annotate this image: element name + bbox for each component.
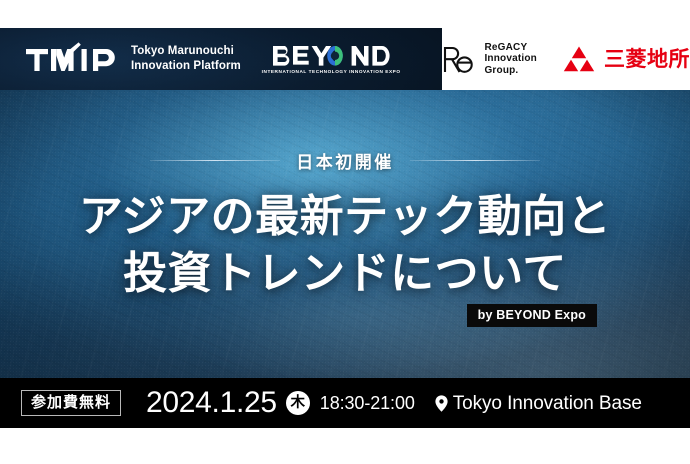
regacy-logo-line-2: Innovation [484, 53, 537, 65]
page-title: アジアの最新テック動向と 投資トレンドについて [0, 188, 690, 302]
page-title-line-1: アジアの最新テック動向と [0, 188, 690, 245]
tmip-logo-line-2: Innovation Platform [131, 59, 241, 74]
beyond-logo-subtitle: INTERNATIONAL TECHNOLOGY INNOVATION EXPO [262, 69, 401, 74]
event-venue-name: Tokyo Innovation Base [453, 394, 642, 413]
logo-bar: Tokyo Marunouchi Innovation Platform [0, 28, 690, 90]
event-banner: Tokyo Marunouchi Innovation Platform [0, 0, 690, 464]
mitsubishi-estate-name: 三菱地所 [604, 49, 690, 70]
tmip-logo-text: Tokyo Marunouchi Innovation Platform [131, 44, 241, 74]
mitsubishi-estate-logo: 三菱地所 [563, 45, 690, 73]
byline-badge: by BEYOND Expo [467, 304, 597, 327]
eyebrow-row: 日本初開催 [0, 148, 690, 173]
event-info-bar: 参加費無料 2024.1.25 木 18:30-21:00 Tokyo Inno… [0, 378, 690, 428]
tmip-logo-line-1: Tokyo Marunouchi [131, 44, 241, 59]
tmip-logo: Tokyo Marunouchi Innovation Platform [26, 42, 241, 76]
beyond-wordmark-icon [272, 45, 390, 67]
logo-bar-dark-section: Tokyo Marunouchi Innovation Platform [0, 28, 442, 90]
logo-bar-white-section: ReGACY Innovation Group. 三菱地所 [442, 28, 690, 90]
regacy-logo: ReGACY Innovation Group. [442, 42, 537, 77]
regacy-logo-line-1: ReGACY [484, 42, 537, 54]
day-of-week-badge: 木 [286, 391, 310, 415]
regacy-logo-text: ReGACY Innovation Group. [484, 42, 537, 77]
eyebrow-rule-left [150, 160, 280, 161]
tmip-wordmark-icon [26, 42, 122, 76]
eyebrow-rule-right [410, 160, 540, 161]
event-venue: Tokyo Innovation Base [435, 394, 642, 413]
page-title-line-2: 投資トレンドについて [0, 245, 690, 302]
free-admission-badge: 参加費無料 [21, 390, 121, 416]
event-date: 2024.1.25 [146, 388, 277, 418]
regacy-logo-line-3: Group. [484, 65, 537, 77]
beyond-logo: INTERNATIONAL TECHNOLOGY INNOVATION EXPO [263, 45, 399, 74]
mitsubishi-three-diamonds-icon [563, 45, 595, 73]
regacy-re-monogram-icon [442, 44, 476, 74]
location-pin-icon [435, 395, 448, 412]
event-time: 18:30-21:00 [320, 394, 415, 412]
eyebrow-label: 日本初開催 [296, 148, 394, 173]
